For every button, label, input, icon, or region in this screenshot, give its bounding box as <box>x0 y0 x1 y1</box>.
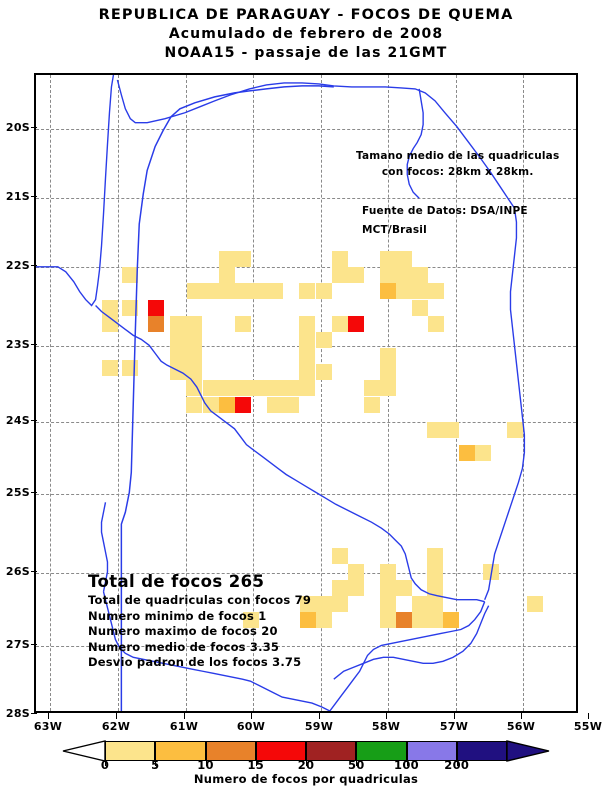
border-paraguay-outline <box>117 80 514 208</box>
x-axis-tick <box>116 713 117 719</box>
x-axis-tick <box>454 713 455 719</box>
x-axis-label: 62W <box>96 720 136 733</box>
x-axis-label: 61W <box>164 720 204 733</box>
x-axis-tick <box>48 713 49 719</box>
x-axis-label: 55W <box>568 720 608 733</box>
y-axis-label: 20S <box>2 121 30 134</box>
stat-quadriculas: Total de quadriculas con focos 79 <box>88 593 311 609</box>
y-axis-tick <box>31 571 37 572</box>
x-axis-label: 58W <box>366 720 406 733</box>
colorbar-over-arrow <box>507 741 549 761</box>
note-source-line-2: MCT/Brasil <box>362 221 528 240</box>
x-axis-tick <box>521 713 522 719</box>
y-axis-tick <box>31 344 37 345</box>
stat-medio: Numero medio de focos 3.35 <box>88 640 311 656</box>
stat-total-focos: Total de focos 265 <box>88 572 311 591</box>
colorbar-tick-label: 20 <box>289 758 323 772</box>
y-axis-label: 28S <box>2 707 30 720</box>
x-axis-label: 59W <box>299 720 339 733</box>
y-axis-label: 26S <box>2 565 30 578</box>
y-axis-tick <box>31 492 37 493</box>
note-grid-size: Tamano medio de las quadriculas con foco… <box>356 148 559 180</box>
y-axis-tick <box>31 713 37 714</box>
colorbar-tick-label: 5 <box>138 758 172 772</box>
stat-maximo: Numero maximo de focos 20 <box>88 624 311 640</box>
colorbar-tick-label: 50 <box>339 758 373 772</box>
x-axis-tick <box>386 713 387 719</box>
y-axis-tick <box>31 265 37 266</box>
border-south-west <box>96 306 485 602</box>
x-axis-label: 60W <box>231 720 271 733</box>
x-axis-tick <box>588 713 589 719</box>
border-south-pilcomayo <box>330 602 485 711</box>
title-line-1: REPUBLICA DE PARAGUAY - FOCOS DE QUEMA <box>0 6 612 25</box>
x-axis-tick <box>251 713 252 719</box>
note-source-line-1: Fuente de Datos: DSA/INPE <box>362 202 528 221</box>
y-axis-tick <box>31 196 37 197</box>
note-data-source: Fuente de Datos: DSA/INPE MCT/Brasil <box>362 202 528 240</box>
colorbar-tick-label: 15 <box>239 758 273 772</box>
stat-minimo: Numero minimo de focos 1 <box>88 609 311 625</box>
x-axis-label: 63W <box>28 720 68 733</box>
x-axis-label: 57W <box>434 720 474 733</box>
y-axis-label: 23S <box>2 338 30 351</box>
x-axis-tick <box>184 713 185 719</box>
colorbar-title: Numero de focos por quadriculas <box>0 772 612 786</box>
y-axis-label: 25S <box>2 486 30 499</box>
y-axis-tick <box>31 644 37 645</box>
note-grid-line-2: con focos: 28km x 28km. <box>356 164 559 180</box>
y-axis-label: 24S <box>2 414 30 427</box>
colorbar-tick-label: 100 <box>390 758 424 772</box>
river-tributary-ne <box>407 89 423 198</box>
title-line-2: Acumulado de febrero de 2008 <box>0 25 612 44</box>
colorbar-tick-label: 0 <box>88 758 122 772</box>
x-axis-tick <box>319 713 320 719</box>
title-line-3: NOAA15 - passaje de las 21GMT <box>0 44 612 63</box>
y-axis-label: 21S <box>2 190 30 203</box>
y-axis-label: 22S <box>2 259 30 272</box>
river-apa <box>334 606 489 680</box>
colorbar-tick-label: 200 <box>440 758 474 772</box>
stat-desvio: Desvio padron de los focos 3.75 <box>88 655 311 671</box>
y-axis-tick <box>31 127 37 128</box>
x-axis-label: 56W <box>501 720 541 733</box>
border-west-chaco <box>36 75 113 306</box>
y-axis-label: 27S <box>2 638 30 651</box>
note-grid-line-1: Tamano medio de las quadriculas <box>356 148 559 164</box>
border-east-parana <box>485 208 525 600</box>
colorbar-tick-label: 10 <box>189 758 223 772</box>
y-axis-tick <box>31 420 37 421</box>
statistics-block: Total de focos 265 Total de quadriculas … <box>88 572 311 671</box>
chart-title-block: REPUBLICA DE PARAGUAY - FOCOS DE QUEMA A… <box>0 6 612 63</box>
